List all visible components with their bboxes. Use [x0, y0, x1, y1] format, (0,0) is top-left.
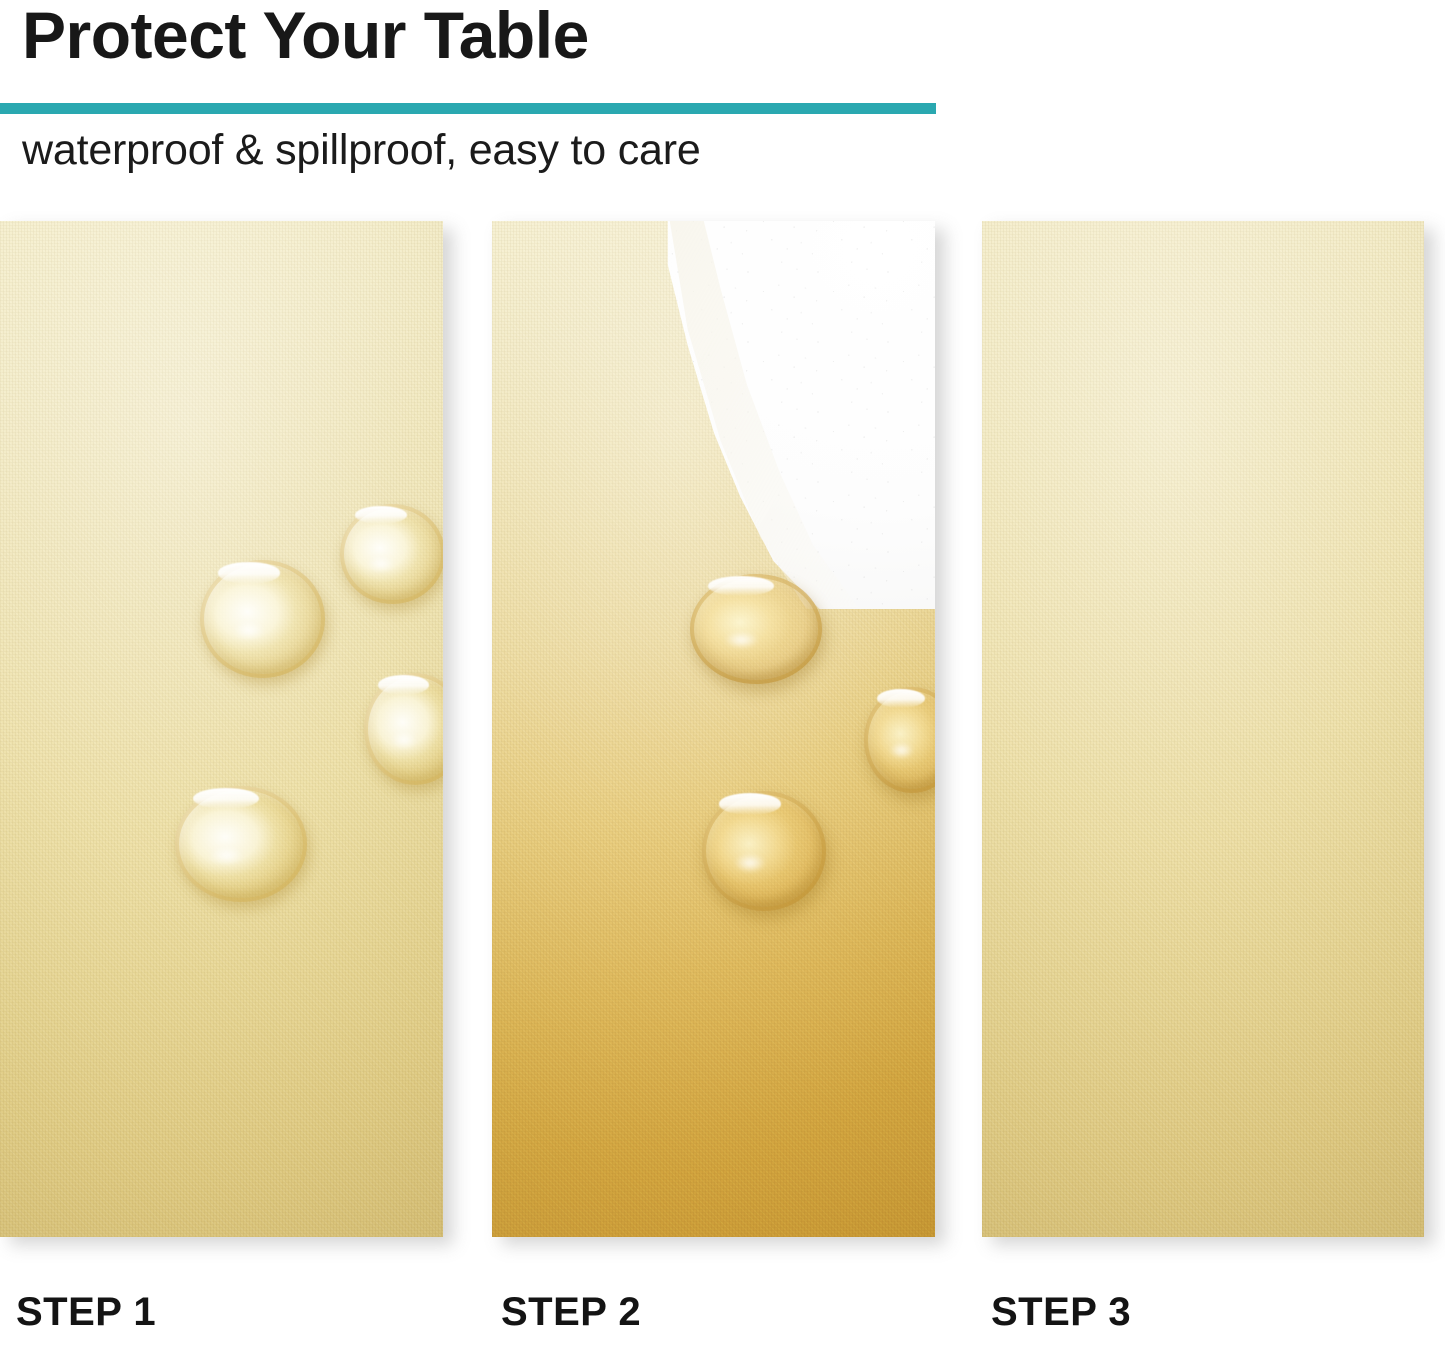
water-droplet [340, 504, 443, 604]
step-1-label: STEP 1 [16, 1290, 156, 1335]
page-subtitle: waterproof & spillproof, easy to care [22, 128, 701, 173]
step-2-label: STEP 2 [501, 1290, 641, 1335]
water-droplet [702, 791, 826, 911]
page-title: Protect Your Table [22, 2, 589, 68]
step-3-label: STEP 3 [991, 1290, 1131, 1335]
accent-divider [0, 103, 936, 114]
infographic-page: Protect Your Table waterproof & spillpro… [0, 0, 1445, 1351]
step-1-image [0, 221, 443, 1237]
step-2-image [492, 221, 935, 1237]
water-droplet [200, 560, 325, 678]
white-towel [615, 221, 935, 609]
step-3-image [982, 221, 1424, 1237]
water-droplet [690, 574, 822, 684]
panel-strip [0, 221, 1445, 1237]
lighting-vignette [982, 221, 1424, 1237]
